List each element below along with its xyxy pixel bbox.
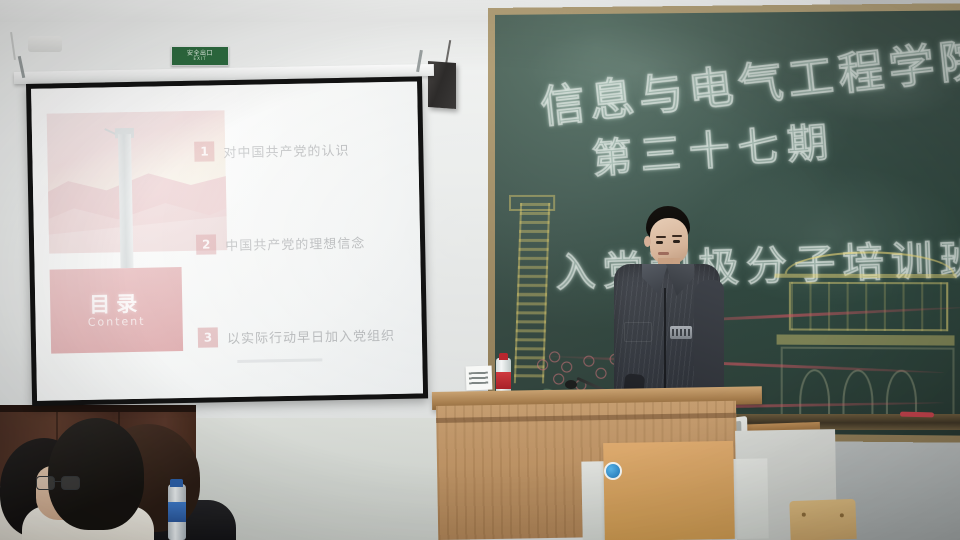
slide-footer-rule [237,358,322,363]
blackboard: 信息与电气工程学院 第三十七期 入党积极分子培训班 [488,3,960,443]
exit-sign: 安全出口 EXIT [171,46,229,66]
chalk-tiananmen-gate-icon [775,251,957,435]
slide-content-heading: 目录 Content [50,267,183,354]
audience-member-with-glasses [48,418,144,530]
slide-agenda-number-3: 3 [198,327,218,347]
chair-backrest [789,499,856,540]
presenter-chest-badge-detail [672,329,690,336]
podium-blue-sticker-icon [604,462,622,480]
slide-agenda-text-1: 对中国共产党的认识 [223,139,349,160]
slide-agenda-number-1: 1 [194,142,214,162]
water-bottle-audience-cap [170,479,183,487]
slide-heading-en: Content [88,315,146,327]
wall-fitting [28,36,62,52]
projection-screen: 目录 Content 1 对中国共产党的认识 2 中国共产党的理想信念 3 以实… [26,76,428,406]
presenter-jacket-pocket [624,322,652,342]
slide-agenda-item-2: 2 中国共产党的理想信念 [196,231,413,255]
slide-heading-cn: 目录 [89,293,143,315]
microphone-icon [565,380,577,389]
podium-wood-panel [603,441,735,540]
slide-agenda-item-1: 1 对中国共产党的认识 [194,138,411,162]
presenter-ear [644,236,651,247]
slide-agenda-number-2: 2 [196,234,216,254]
water-bottle-podium-label [496,372,511,389]
exit-sign-label-en: EXIT [194,57,207,61]
slide-agenda-text-3: 以实际行动早日加入党组织 [227,325,395,347]
slide-agenda-text-2: 中国共产党的理想信念 [225,232,365,254]
lecture-hall-photo: 安全出口 EXIT 目录 Content [0,0,960,540]
slide-agenda-item-3: 3 以实际行动早日加入党组织 [198,324,415,348]
red-chalk-stick [900,412,934,418]
glasses-icon [36,476,80,488]
slide-agenda-list: 1 对中国共产党的认识 2 中国共产党的理想信念 3 以实际行动早日加入党组织 [194,138,414,348]
water-bottle-audience-label [168,502,186,522]
paper-note-lines [469,372,488,385]
presenter-mouth [658,252,669,255]
presentation-slide: 目录 Content 1 对中国共产党的认识 2 中国共产党的理想信念 3 以实… [31,81,423,400]
water-bottle-podium-cap [499,353,508,360]
